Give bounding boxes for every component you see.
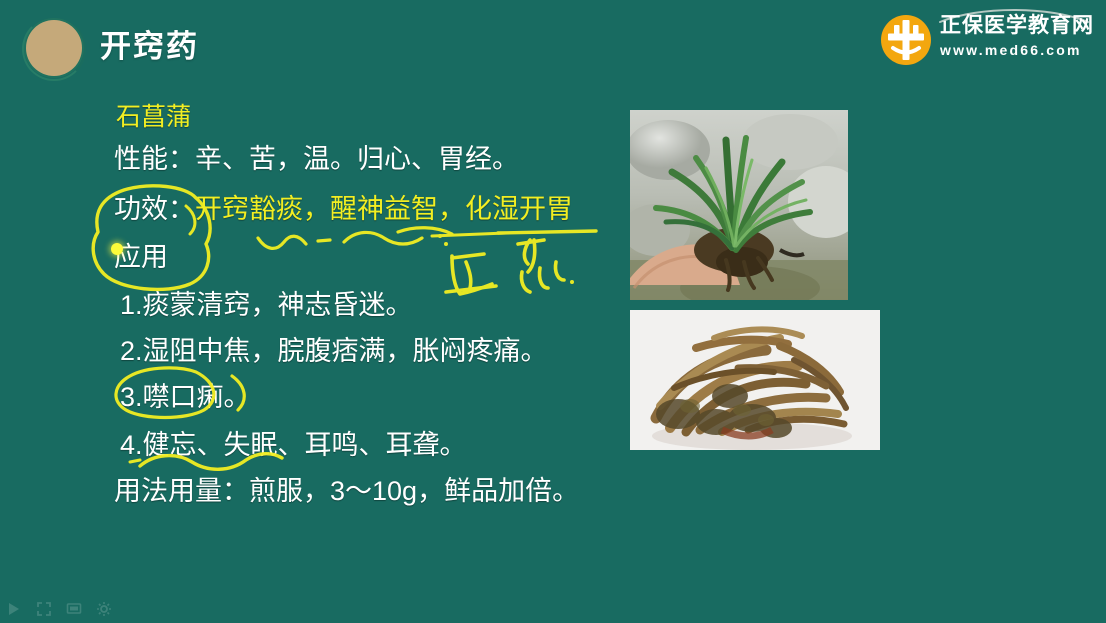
gear-icon[interactable] xyxy=(96,601,112,617)
logo-brand-name: 正保医学教育网 xyxy=(940,12,1090,40)
line-properties: 性能：辛、苦，温。归心、胃经。 xyxy=(114,142,519,176)
video-slide-frame: 开窍药 正保医学教育网 www.med66.com 石菖蒲 xyxy=(0,0,1106,623)
handwriting-pixin-annotation xyxy=(438,234,574,294)
screen-icon[interactable] xyxy=(66,601,82,617)
brand-logo: 正保医学教育网 www.med66.com xyxy=(880,8,1090,76)
pen-cursor-dot xyxy=(111,243,123,255)
med66-cross-logo-icon xyxy=(880,14,932,66)
logo-text: 正保医学教育网 www.med66.com xyxy=(940,12,1090,60)
squiggle-huotan-annotation xyxy=(258,236,306,248)
underline-huashikaiwei-annotation xyxy=(498,231,596,233)
line-application-4: 4.健忘、失眠、耳鸣、耳聋。 xyxy=(120,428,467,462)
line-application-1: 1.痰蒙清窍，神志昏迷。 xyxy=(120,288,413,322)
slide-header: 开窍药 正保医学教育网 www.med66.com xyxy=(0,0,1106,88)
line-effect: 功效：开窍豁痰，醒神益智，化湿开胃 xyxy=(114,192,573,226)
effect-label: 功效： xyxy=(114,194,195,224)
effect-value: 开窍豁痰，醒神益智，化湿开胃 xyxy=(195,194,573,224)
circle-badge-icon xyxy=(26,20,82,76)
page-title: 开窍药 xyxy=(100,24,199,70)
squiggle-xingshen-annotation xyxy=(344,232,422,244)
video-player-bar[interactable] xyxy=(0,583,1106,623)
player-controls-group[interactable] xyxy=(6,601,112,617)
line-application-3: 3.噤口痢。 xyxy=(120,380,251,414)
expand-icon[interactable] xyxy=(36,601,52,617)
shichangpu-dried-rhizome-photo xyxy=(630,310,880,450)
shichangpu-fresh-plant-photo xyxy=(630,110,848,300)
logo-website-url: www.med66.com xyxy=(940,40,1090,60)
line-application-2: 2.湿阻中焦，脘腹痞满，胀闷疼痛。 xyxy=(120,334,548,368)
play-icon[interactable] xyxy=(6,601,22,617)
line-dosage: 用法用量：煎服，3～10g，鲜品加倍。 xyxy=(114,474,579,508)
herb-name: 石菖蒲 xyxy=(116,100,191,134)
